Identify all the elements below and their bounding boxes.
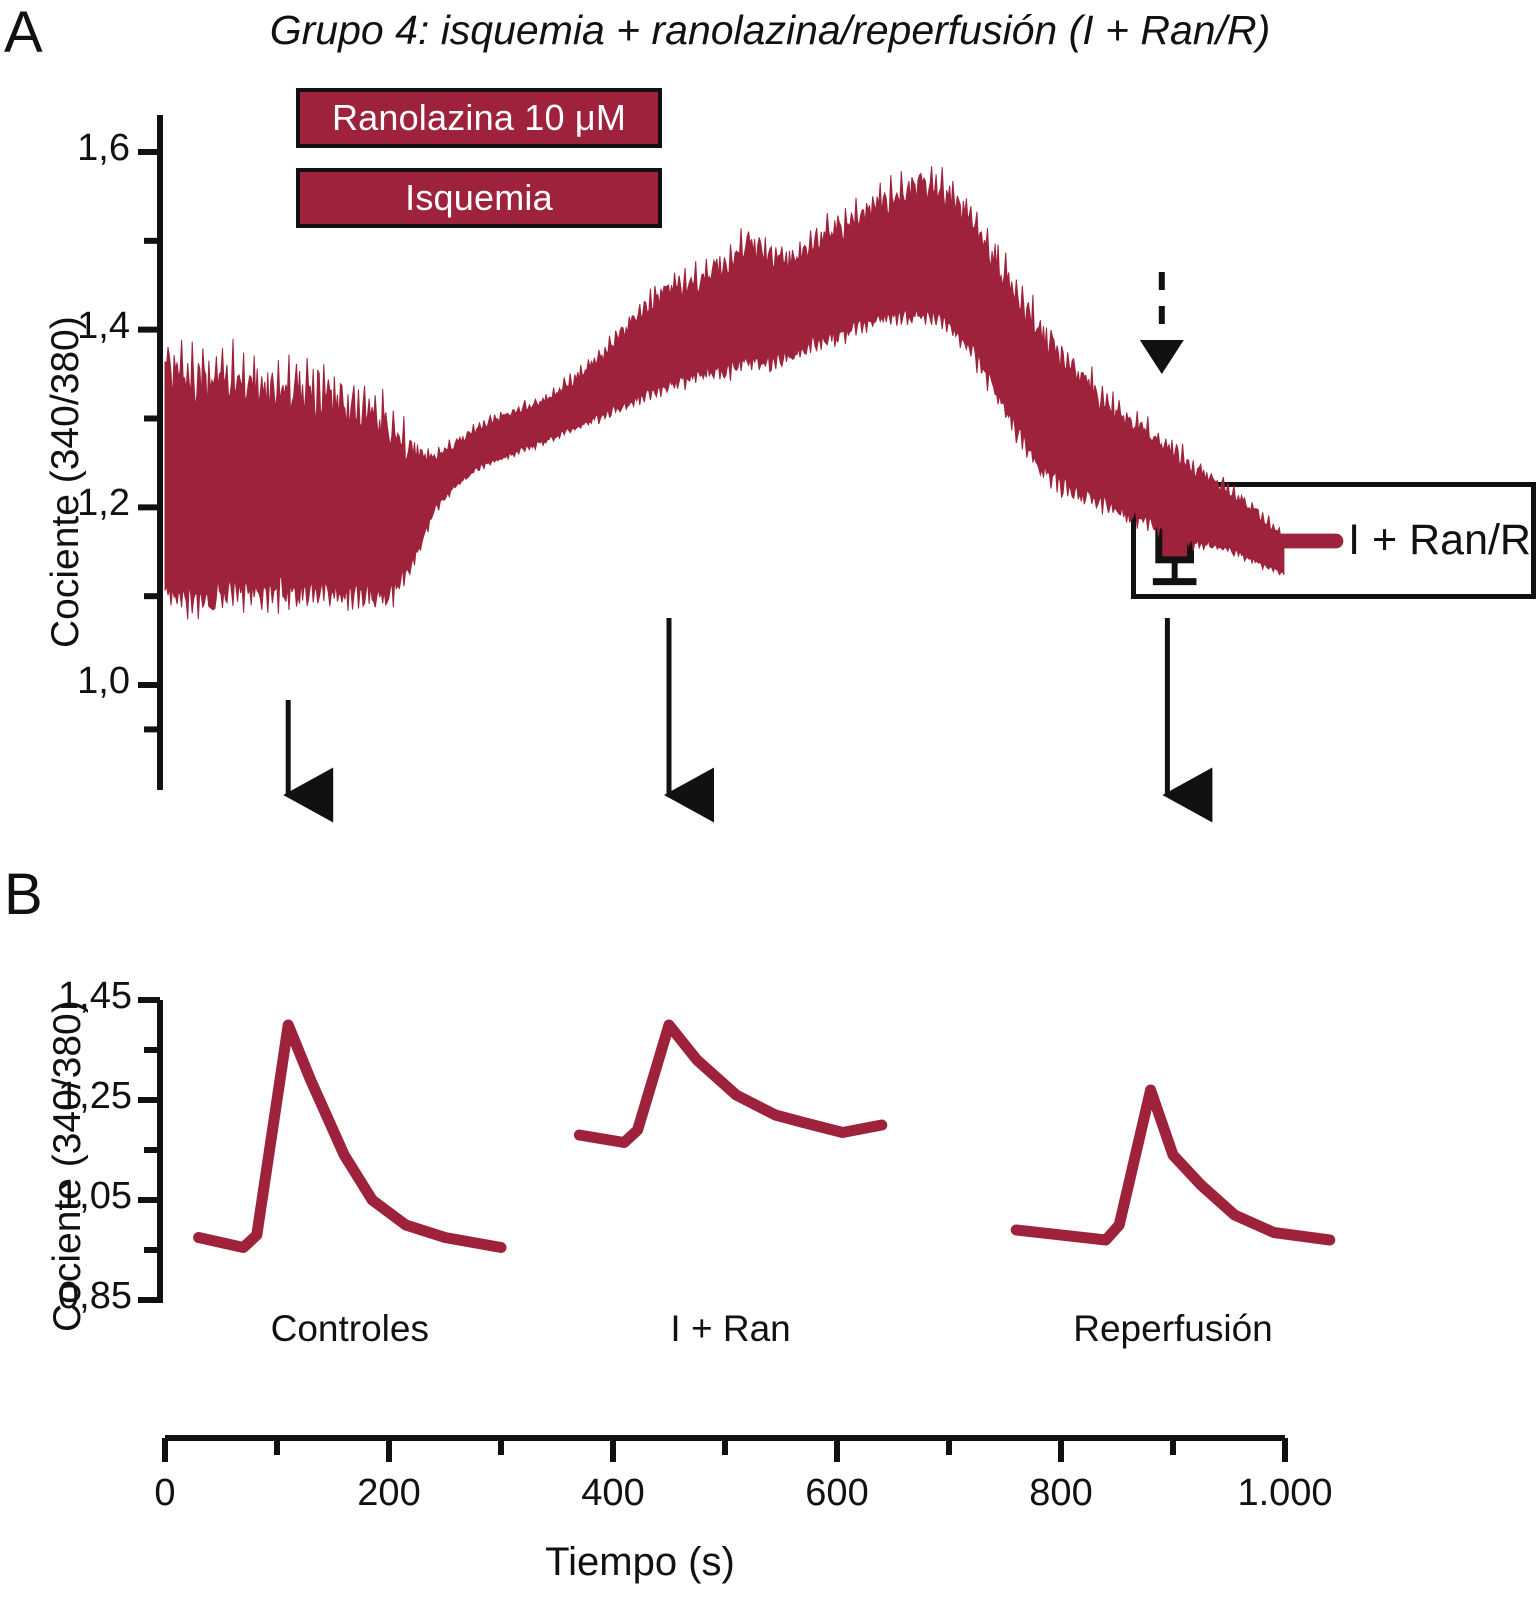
panel-b-axis [138,1000,160,1303]
panel-b-trace-2 [1016,1090,1330,1240]
shared-x-axis [165,1438,1285,1462]
figure-root: A B Grupo 4: isquemia + ranolazina/reper… [0,0,1540,1615]
panel-a-axis [138,115,160,790]
plot-canvas [0,0,1540,1615]
panel-b-traces [199,1025,1330,1248]
panel-b-trace-0 [199,1025,501,1248]
panel-a-trace [165,166,1284,619]
dashed-arrow-head [1140,340,1184,374]
panel-b-trace-1 [579,1025,881,1143]
